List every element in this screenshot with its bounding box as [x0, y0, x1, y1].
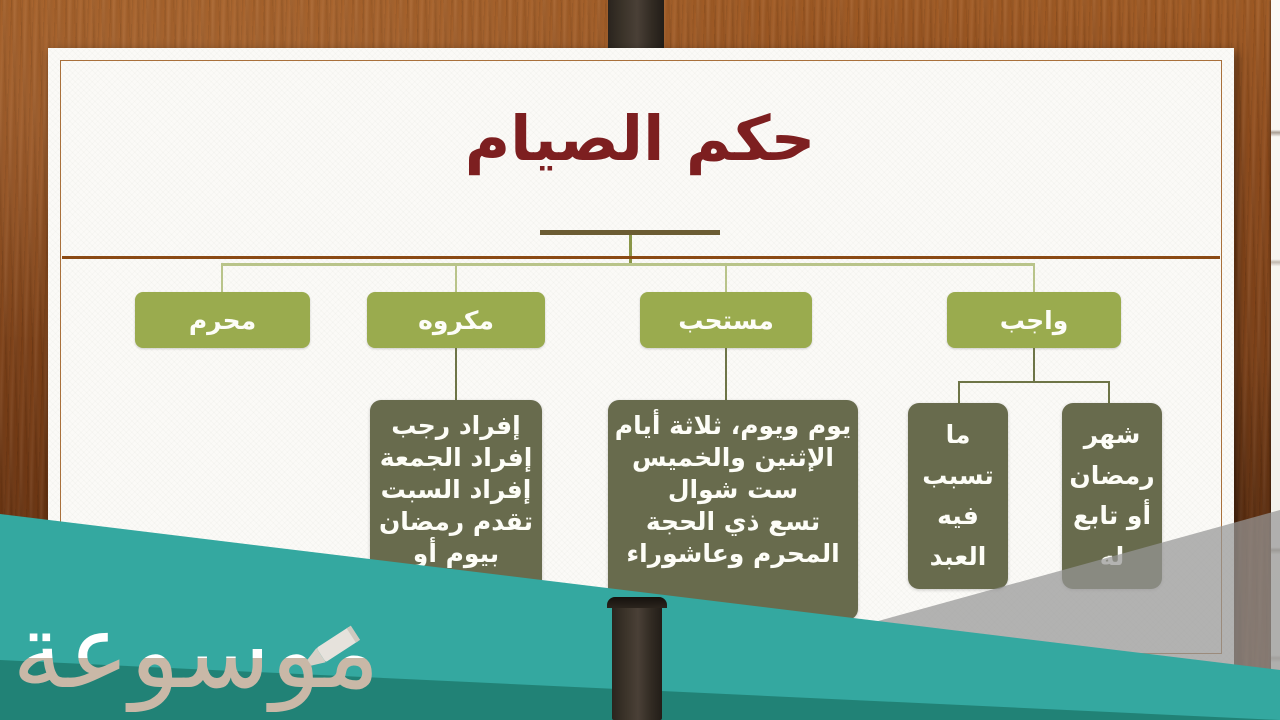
- page-title: حكم الصيام: [0, 108, 1280, 170]
- detail-line: الإثنين والخميس: [632, 442, 834, 474]
- detail-line: تقدم رمضان: [379, 506, 533, 538]
- detail-box-wajib-ramadan[interactable]: شهر رمضان أو تابع له: [1062, 403, 1162, 589]
- category-box-muharram[interactable]: محرم: [135, 292, 310, 348]
- detail-line: ما: [946, 419, 971, 451]
- detail-line: أو تابع: [1073, 500, 1151, 532]
- detail-line: رمضان: [1069, 460, 1154, 492]
- category-label: مستحب: [678, 306, 774, 335]
- connector-wajib-trunk: [1033, 348, 1035, 382]
- detail-line: فيه: [937, 500, 979, 532]
- detail-box-wajib-servant-caused[interactable]: ما تسبب فيه العبد: [908, 403, 1008, 589]
- connector-main-horizontal: [222, 263, 1034, 266]
- category-label: واجب: [1000, 306, 1069, 335]
- detail-line: إفراد السبت: [381, 474, 532, 506]
- detail-line: العبد: [930, 541, 987, 573]
- detail-line: شهر: [1084, 419, 1141, 451]
- binder-clip-bottom-icon: [612, 601, 662, 720]
- detail-box-makruh[interactable]: إفراد رجب إفراد الجمعة إفراد السبت تقدم …: [370, 400, 542, 628]
- detail-line: تسبب: [922, 460, 994, 492]
- detail-line: ست شوال: [668, 474, 798, 506]
- connector-mustahab-to-detail: [725, 348, 727, 400]
- category-label: محرم: [189, 306, 256, 335]
- connector-drop-wajib: [1033, 263, 1035, 293]
- detail-line: تسع ذي الحجة: [646, 506, 820, 538]
- category-box-makruh[interactable]: مكروه: [367, 292, 545, 348]
- connector-makruh-to-detail: [455, 348, 457, 400]
- detail-line: إفراد رجب: [391, 410, 520, 442]
- horizontal-rule: [62, 256, 1220, 259]
- category-box-mustahab[interactable]: مستحب: [640, 292, 812, 348]
- connector-title-to-trunk: [629, 235, 632, 265]
- detail-line: يوم ويوم، ثلاثة أيام: [615, 410, 852, 442]
- connector-wajib-horizontal: [958, 381, 1109, 383]
- detail-line: إفراد الجمعة: [380, 442, 533, 474]
- detail-line: له: [1100, 541, 1125, 573]
- connector-drop-mustahab: [725, 263, 727, 293]
- detail-box-mustahab[interactable]: يوم ويوم، ثلاثة أيام الإثنين والخميس ست …: [608, 400, 858, 620]
- category-box-wajib[interactable]: واجب: [947, 292, 1121, 348]
- connector-drop-makruh: [455, 263, 457, 293]
- connector-wajib-to-detail-left: [958, 381, 960, 404]
- detail-line: المحرم وعاشوراء: [626, 538, 839, 570]
- detail-line: بيوم أو يومين: [376, 538, 536, 602]
- connector-drop-muharram: [221, 263, 223, 293]
- category-label: مكروه: [418, 306, 494, 335]
- connector-wajib-to-detail-right: [1108, 381, 1110, 404]
